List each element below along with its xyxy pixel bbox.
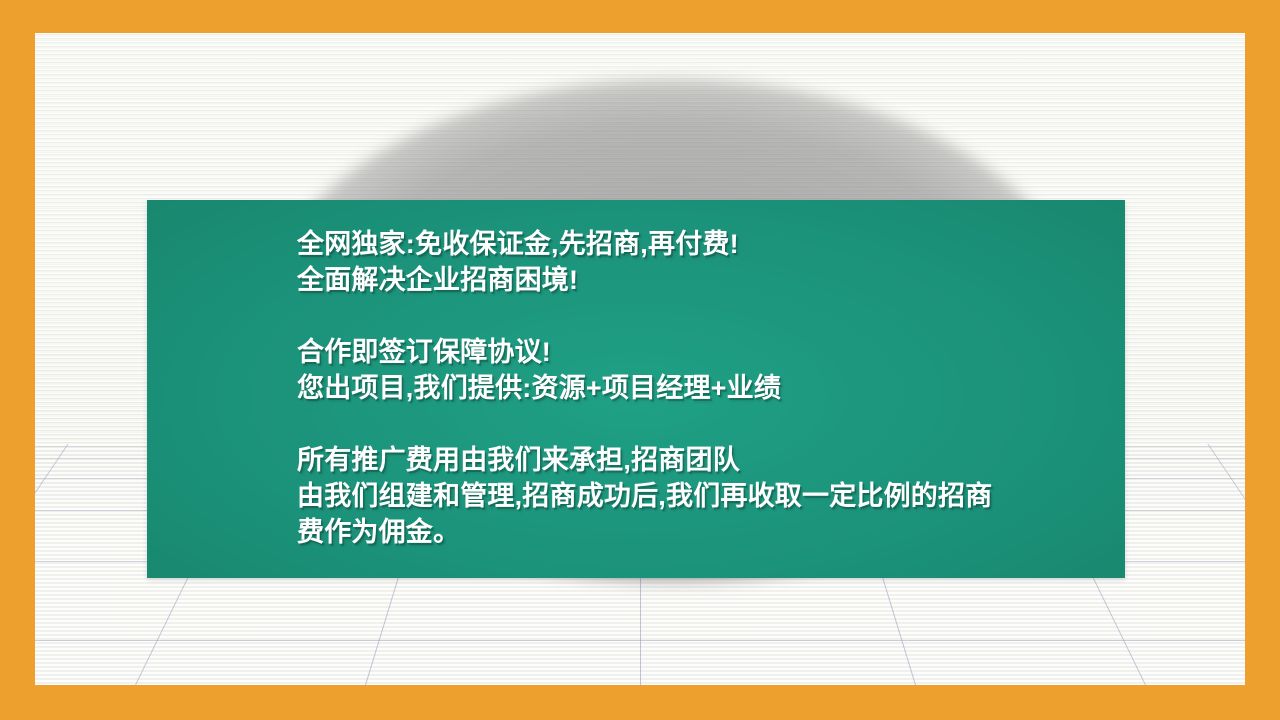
- panel-text-paragraph-gap: [297, 406, 992, 442]
- panel-text-line: 全面解决企业招商困境!: [297, 262, 992, 298]
- poster-canvas: 全网独家:免收保证金,先招商,再付费!全面解决企业招商困境!合作即签订保障协议!…: [0, 0, 1280, 720]
- panel-text-line: 合作即签订保障协议!: [297, 334, 992, 370]
- floor-vertical-line: [35, 444, 91, 685]
- panel-text-line: 由我们组建和管理,招商成功后,我们再收取一定比例的招商: [297, 478, 992, 514]
- panel-text-line: 您出项目,我们提供:资源+项目经理+业绩: [297, 370, 992, 406]
- panel-text-line: 所有推广费用由我们来承担,招商团队: [297, 442, 992, 478]
- panel-text-paragraph-gap: [297, 298, 992, 334]
- room-scene: 全网独家:免收保证金,先招商,再付费!全面解决企业招商困境!合作即签订保障协议!…: [35, 33, 1245, 685]
- panel-text-block: 全网独家:免收保证金,先招商,再付费!全面解决企业招商困境!合作即签订保障协议!…: [297, 226, 992, 550]
- floor-vertical-line: [1185, 444, 1245, 685]
- panel-text-line: 全网独家:免收保证金,先招商,再付费!: [297, 226, 992, 262]
- green-message-panel: 全网独家:免收保证金,先招商,再付费!全面解决企业招商困境!合作即签订保障协议!…: [147, 200, 1125, 578]
- panel-text-line: 费作为佣金。: [297, 514, 992, 550]
